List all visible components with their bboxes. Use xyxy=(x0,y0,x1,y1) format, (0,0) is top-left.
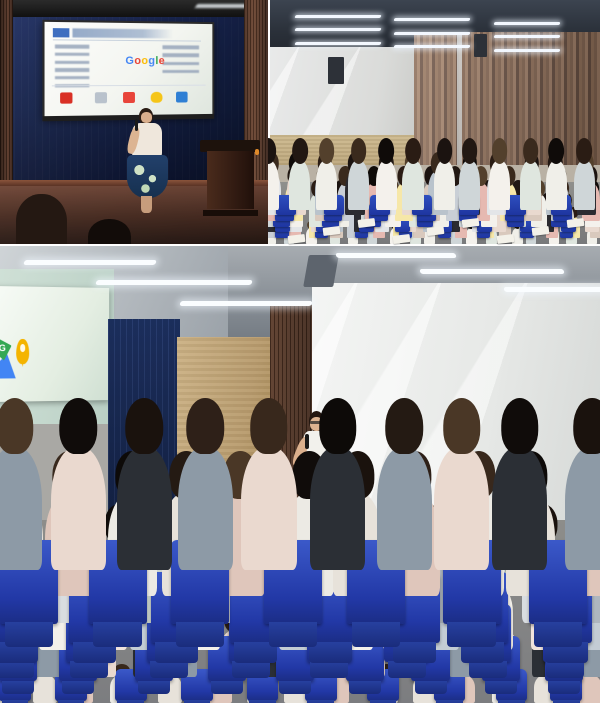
microphone-icon xyxy=(135,119,138,131)
hall-person xyxy=(0,447,42,570)
wall-speaker-icon xyxy=(328,57,345,84)
maps-g-letter: G xyxy=(0,343,6,353)
person-head xyxy=(351,138,367,164)
lectern xyxy=(204,140,258,216)
ceiling-led-strip xyxy=(493,22,560,25)
map-pin-icon xyxy=(17,339,29,365)
ceiling-led-strip xyxy=(394,32,471,35)
person-head xyxy=(573,398,600,454)
audience-person xyxy=(376,160,397,210)
slide-title-text xyxy=(73,28,174,38)
panel-seam-horizontal xyxy=(0,244,600,246)
speaker-legs xyxy=(141,196,152,213)
audience-person xyxy=(402,160,423,210)
slide-logo-blue-app xyxy=(176,92,188,103)
ceiling-led-strip xyxy=(493,35,560,38)
handout-paper xyxy=(392,234,409,244)
hall-person xyxy=(565,447,600,570)
photo-panel-stage: Google xyxy=(0,0,268,246)
hall-person xyxy=(51,447,106,570)
audience-person xyxy=(520,160,541,210)
slide-logo-strip xyxy=(52,84,206,110)
slide-divider xyxy=(54,39,202,41)
stage-wood-trim-left xyxy=(0,0,13,207)
person-head xyxy=(187,398,225,454)
ceiling-led-strip xyxy=(394,45,471,48)
person-head xyxy=(443,398,481,454)
hall-person xyxy=(117,447,172,570)
hall-crowd xyxy=(0,420,600,703)
audience-person xyxy=(289,160,310,210)
hall-person xyxy=(241,447,296,570)
person-head xyxy=(0,398,34,454)
audience-crowd xyxy=(268,133,600,246)
person-head xyxy=(319,138,335,164)
hall-person xyxy=(434,447,489,570)
ceiling-light-strip xyxy=(179,301,312,306)
person-head xyxy=(549,138,565,164)
slide-accent-bar xyxy=(54,28,70,37)
ceiling-led-strip xyxy=(294,15,382,18)
person-head xyxy=(60,398,98,454)
person-head xyxy=(126,398,164,454)
ceiling-light-strip xyxy=(419,269,564,274)
slide-logo-gray xyxy=(95,93,108,104)
ceiling-led-strip xyxy=(294,28,382,31)
person-head xyxy=(378,138,394,164)
audience-person xyxy=(489,160,510,210)
person-head xyxy=(523,138,539,164)
handout-paper xyxy=(497,234,514,244)
ceiling-led-strip xyxy=(394,18,471,21)
stage-speaker xyxy=(126,108,169,211)
handout-paper xyxy=(322,226,339,236)
photo-panel-audience xyxy=(268,0,600,246)
slide-right-bullets xyxy=(162,45,204,76)
audience-person xyxy=(574,160,595,210)
ceiling-light-strip xyxy=(335,253,456,258)
speaker-floral-skirt xyxy=(127,155,168,198)
audience-white-wall xyxy=(268,47,421,145)
ceiling-projector-icon xyxy=(303,255,339,287)
person-head xyxy=(492,138,508,164)
google-maps-logo: G xyxy=(0,337,28,379)
stage-ceiling xyxy=(0,0,268,17)
lectern-body xyxy=(207,151,254,209)
person-head xyxy=(437,138,453,164)
audience-person xyxy=(316,160,337,210)
hall-person xyxy=(310,447,365,570)
projection-screen-hall: G xyxy=(0,286,109,402)
ceiling-light-strip xyxy=(23,260,157,265)
audience-person xyxy=(348,160,369,210)
audience-person xyxy=(459,160,480,210)
projection-screen-stage: Google xyxy=(43,20,215,119)
slide-left-bullets xyxy=(55,45,110,88)
slide-logo-yellow xyxy=(151,92,163,103)
person-head xyxy=(576,138,592,164)
wall-speaker-icon xyxy=(474,34,487,56)
ceiling-led-strip xyxy=(493,49,560,52)
ceiling-light-strip xyxy=(503,287,600,292)
person-head xyxy=(292,138,308,164)
handout-paper xyxy=(287,234,304,244)
audience-person xyxy=(546,160,567,210)
foreground-head xyxy=(16,194,67,246)
handout-paper xyxy=(566,218,583,228)
photo-panel-hall: G xyxy=(0,246,600,703)
person-head xyxy=(250,398,288,454)
hall-person xyxy=(492,447,547,570)
photo-collage: Google xyxy=(0,0,600,703)
slide-surface: Google xyxy=(45,22,213,117)
handout-paper xyxy=(532,226,549,236)
hall-person xyxy=(377,447,432,570)
hall-person xyxy=(33,675,57,703)
google-wordmark: Google xyxy=(126,55,166,67)
lectern-base xyxy=(203,210,259,216)
ceiling-led-strip xyxy=(294,42,382,45)
audience-person xyxy=(434,160,455,210)
person-head xyxy=(462,138,478,164)
hall-person xyxy=(178,447,233,570)
slide-logo-red xyxy=(60,93,73,104)
person-head xyxy=(319,398,357,454)
person-head xyxy=(501,398,539,454)
person-head xyxy=(386,398,424,454)
youtube-icon xyxy=(123,92,135,103)
person-head xyxy=(405,138,421,164)
ceiling-light-strip xyxy=(95,280,252,285)
speaker-face xyxy=(141,112,152,122)
